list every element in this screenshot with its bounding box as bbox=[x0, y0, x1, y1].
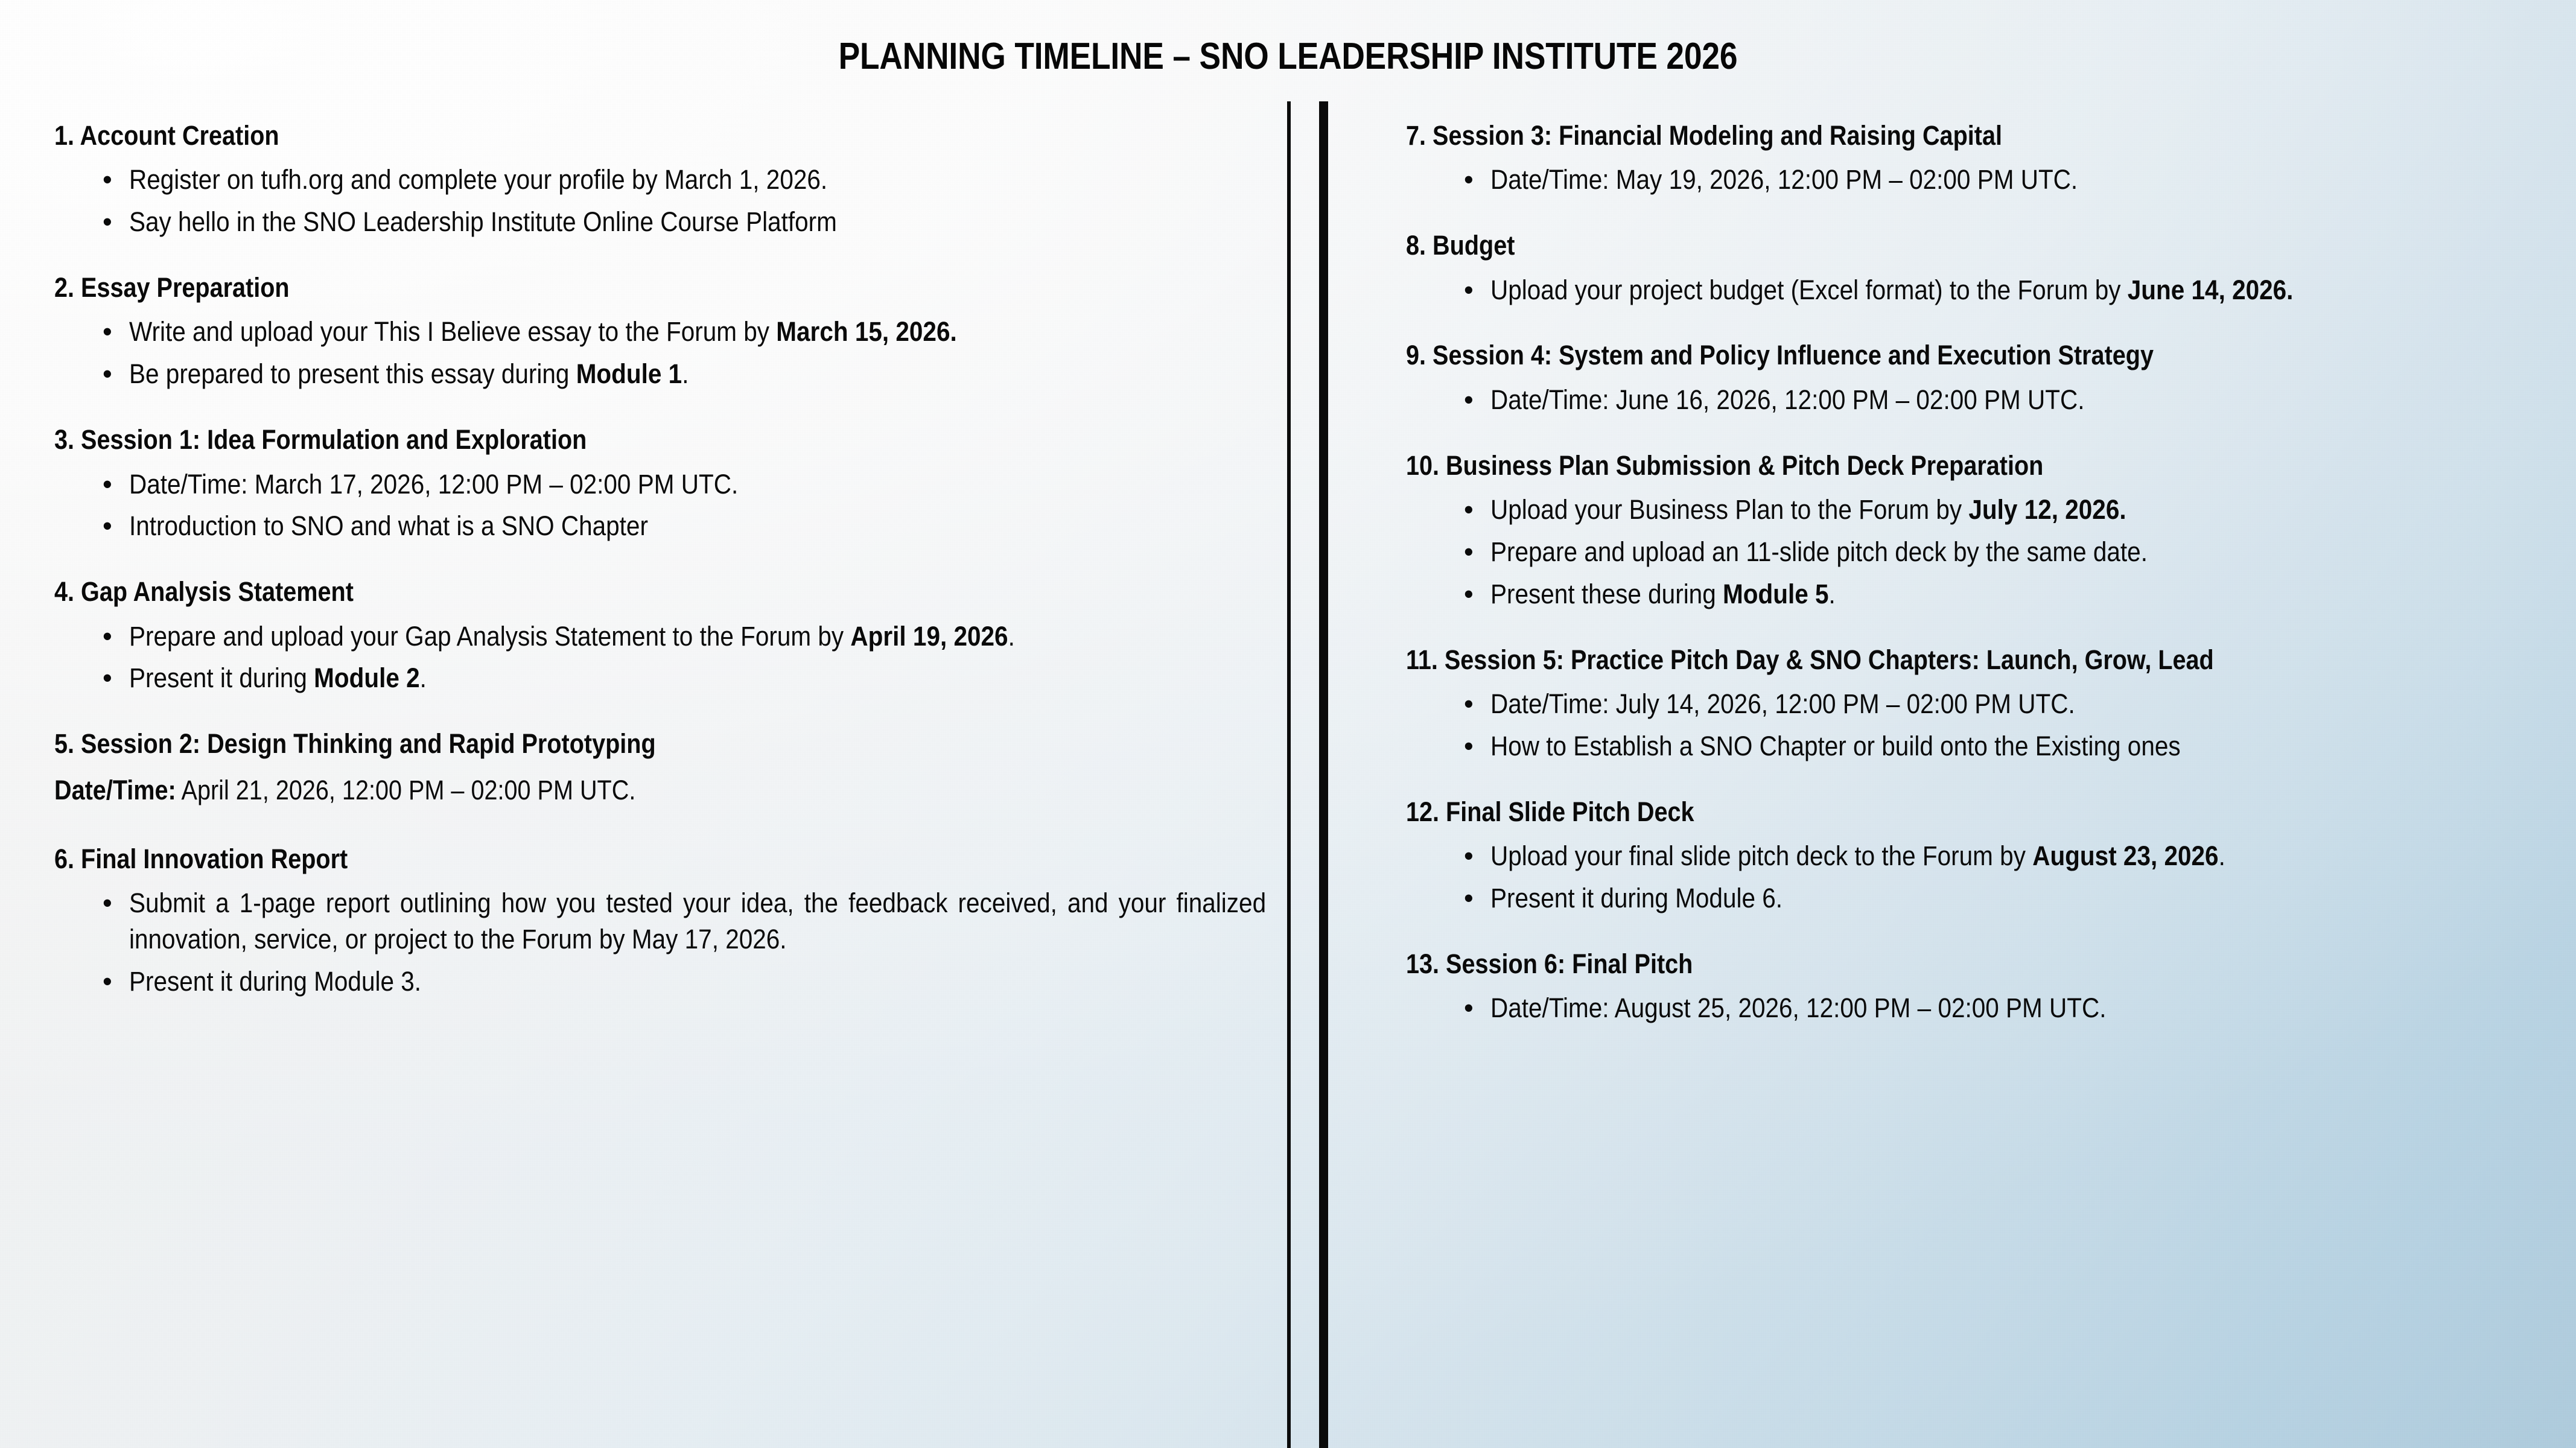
timeline-item-heading: 9. Session 4: System and Policy Influenc… bbox=[1406, 340, 2415, 370]
timeline-item-heading: 7. Session 3: Financial Modeling and Rai… bbox=[1406, 121, 2415, 151]
list-item-text: Present it during Module 2. bbox=[129, 660, 1266, 696]
bullet-icon: • bbox=[103, 618, 112, 655]
list-item: •How to Establish a SNO Chapter or build… bbox=[1464, 728, 2552, 764]
bullet-icon: • bbox=[103, 204, 112, 240]
left-column: 1. Account Creation•Register on tufh.org… bbox=[54, 121, 1267, 1006]
timeline-item: 10. Business Plan Submission & Pitch Dec… bbox=[1406, 451, 2552, 612]
list-item: •Prepare and upload your Gap Analysis St… bbox=[103, 618, 1267, 655]
timeline-item-heading: 4. Gap Analysis Statement bbox=[54, 577, 1122, 607]
timeline-item-bullet-list: •Date/Time: March 17, 2026, 12:00 PM – 0… bbox=[54, 466, 1267, 545]
list-item-text: Upload your final slide pitch deck to th… bbox=[1490, 838, 2551, 874]
list-item-text: Upload your Business Plan to the Forum b… bbox=[1490, 492, 2551, 528]
bullet-icon: • bbox=[1464, 838, 1474, 874]
list-item: •Prepare and upload an 11-slide pitch de… bbox=[1464, 534, 2552, 570]
timeline-item-bullet-list: •Prepare and upload your Gap Analysis St… bbox=[54, 618, 1267, 697]
column-divider-thin bbox=[1287, 101, 1291, 1448]
bullet-icon: • bbox=[103, 466, 112, 503]
timeline-item-bullet-list: •Date/Time: August 25, 2026, 12:00 PM – … bbox=[1406, 990, 2552, 1026]
list-item-text: Date/Time: May 19, 2026, 12:00 PM – 02:0… bbox=[1490, 162, 2551, 198]
timeline-item-heading: 8. Budget bbox=[1406, 230, 2415, 261]
item-spacer bbox=[1406, 922, 2552, 949]
list-item-text: Present these during Module 5. bbox=[1490, 576, 2551, 612]
list-item: •Date/Time: June 16, 2026, 12:00 PM – 02… bbox=[1464, 382, 2552, 418]
list-item-text: Upload your project budget (Excel format… bbox=[1490, 272, 2551, 308]
bullet-icon: • bbox=[1464, 880, 1474, 916]
bullet-icon: • bbox=[1464, 686, 1474, 722]
list-item-text: Date/Time: August 25, 2026, 12:00 PM – 0… bbox=[1490, 990, 2551, 1026]
timeline-item: 9. Session 4: System and Policy Influenc… bbox=[1406, 340, 2552, 418]
timeline-item-bullet-list: •Upload your project budget (Excel forma… bbox=[1406, 272, 2552, 308]
list-item-text: Submit a 1-page report outlining how you… bbox=[129, 885, 1266, 957]
list-item: •Register on tufh.org and complete your … bbox=[103, 162, 1267, 198]
bullet-icon: • bbox=[1464, 534, 1474, 570]
list-item: •Upload your project budget (Excel forma… bbox=[1464, 272, 2552, 308]
bullet-icon: • bbox=[1464, 272, 1474, 308]
timeline-item-bullet-list: •Upload your Business Plan to the Forum … bbox=[1406, 492, 2552, 612]
list-item: •Present it during Module 3. bbox=[103, 964, 1267, 1000]
list-item-text: How to Establish a SNO Chapter or build … bbox=[1490, 728, 2551, 764]
timeline-item: 4. Gap Analysis Statement•Prepare and up… bbox=[54, 577, 1267, 696]
bullet-icon: • bbox=[1464, 382, 1474, 418]
item-spacer bbox=[54, 398, 1267, 425]
timeline-item-bullet-list: •Register on tufh.org and complete your … bbox=[54, 162, 1267, 240]
page-title: PLANNING TIMELINE – SNO LEADERSHIP INSTI… bbox=[180, 35, 2396, 78]
list-item-text: Register on tufh.org and complete your p… bbox=[129, 162, 1266, 198]
list-item-text: Date/Time: March 17, 2026, 12:00 PM – 02… bbox=[129, 466, 1266, 503]
list-item: •Present it during Module 6. bbox=[1464, 880, 2552, 916]
timeline-item: 5. Session 2: Design Thinking and Rapid … bbox=[54, 729, 1267, 806]
timeline-item-bullet-list: •Upload your final slide pitch deck to t… bbox=[1406, 838, 2552, 916]
item-spacer bbox=[54, 807, 1267, 844]
list-item-text: Date/Time: June 16, 2026, 12:00 PM – 02:… bbox=[1490, 382, 2551, 418]
timeline-item-heading: 13. Session 6: Final Pitch bbox=[1406, 949, 2415, 979]
timeline-item-heading: 11. Session 5: Practice Pitch Day & SNO … bbox=[1406, 645, 2415, 675]
item-spacer bbox=[1406, 424, 2552, 451]
list-item: •Date/Time: July 14, 2026, 12:00 PM – 02… bbox=[1464, 686, 2552, 722]
list-item: •Be prepared to present this essay durin… bbox=[103, 356, 1267, 392]
bullet-icon: • bbox=[1464, 162, 1474, 198]
bullet-icon: • bbox=[103, 660, 112, 696]
timeline-item-heading: 3. Session 1: Idea Formulation and Explo… bbox=[54, 425, 1122, 455]
timeline-item-bullet-list: •Date/Time: May 19, 2026, 12:00 PM – 02:… bbox=[1406, 162, 2552, 198]
timeline-item-bullet-list: •Date/Time: July 14, 2026, 12:00 PM – 02… bbox=[1406, 686, 2552, 764]
list-item-text: Present it during Module 3. bbox=[129, 964, 1266, 1000]
timeline-item-heading: 2. Essay Preparation bbox=[54, 273, 1122, 303]
timeline-item: 11. Session 5: Practice Pitch Day & SNO … bbox=[1406, 645, 2552, 764]
list-item: •Say hello in the SNO Leadership Institu… bbox=[103, 204, 1267, 240]
timeline-item-bullet-list: •Submit a 1-page report outlining how yo… bbox=[54, 885, 1267, 1000]
bullet-icon: • bbox=[1464, 990, 1474, 1026]
list-item: •Date/Time: May 19, 2026, 12:00 PM – 02:… bbox=[1464, 162, 2552, 198]
slide-canvas: PLANNING TIMELINE – SNO LEADERSHIP INSTI… bbox=[0, 0, 2576, 1448]
list-item-text: Say hello in the SNO Leadership Institut… bbox=[129, 204, 1266, 240]
timeline-item: 6. Final Innovation Report•Submit a 1-pa… bbox=[54, 844, 1267, 1000]
item-spacer bbox=[1406, 770, 2552, 797]
timeline-item-heading: 12. Final Slide Pitch Deck bbox=[1406, 797, 2415, 827]
list-item-text: Prepare and upload an 11-slide pitch dec… bbox=[1490, 534, 2551, 570]
list-item: •Date/Time: March 17, 2026, 12:00 PM – 0… bbox=[103, 466, 1267, 503]
timeline-item: 12. Final Slide Pitch Deck•Upload your f… bbox=[1406, 797, 2552, 916]
timeline-item: 2. Essay Preparation•Write and upload yo… bbox=[54, 273, 1267, 392]
list-item-text: Write and upload your This I Believe ess… bbox=[129, 314, 1266, 350]
timeline-item: 7. Session 3: Financial Modeling and Rai… bbox=[1406, 121, 2552, 198]
bullet-icon: • bbox=[103, 885, 112, 921]
timeline-item-subline: Date/Time: April 21, 2026, 12:00 PM – 02… bbox=[54, 774, 1122, 807]
bullet-icon: • bbox=[103, 508, 112, 544]
timeline-item-bullet-list: •Write and upload your This I Believe es… bbox=[54, 314, 1267, 392]
bullet-icon: • bbox=[1464, 576, 1474, 612]
list-item: •Introduction to SNO and what is a SNO C… bbox=[103, 508, 1267, 544]
timeline-item: 13. Session 6: Final Pitch•Date/Time: Au… bbox=[1406, 949, 2552, 1026]
list-item: •Upload your final slide pitch deck to t… bbox=[1464, 838, 2552, 874]
bullet-icon: • bbox=[1464, 728, 1474, 764]
timeline-item-heading: 6. Final Innovation Report bbox=[54, 844, 1122, 874]
list-item-text: Be prepared to present this essay during… bbox=[129, 356, 1266, 392]
item-spacer bbox=[54, 246, 1267, 273]
list-item-text: Present it during Module 6. bbox=[1490, 880, 2551, 916]
bullet-icon: • bbox=[103, 356, 112, 392]
list-item: •Present it during Module 2. bbox=[103, 660, 1267, 696]
item-spacer bbox=[1406, 204, 2552, 230]
list-item: •Submit a 1-page report outlining how yo… bbox=[103, 885, 1267, 957]
list-item-text: Introduction to SNO and what is a SNO Ch… bbox=[129, 508, 1266, 544]
bullet-icon: • bbox=[1464, 492, 1474, 528]
column-divider-thick bbox=[1319, 101, 1328, 1448]
timeline-item: 8. Budget•Upload your project budget (Ex… bbox=[1406, 230, 2552, 308]
item-spacer bbox=[54, 702, 1267, 729]
bullet-icon: • bbox=[103, 314, 112, 350]
list-item: •Date/Time: August 25, 2026, 12:00 PM – … bbox=[1464, 990, 2552, 1026]
right-column: 7. Session 3: Financial Modeling and Rai… bbox=[1406, 121, 2552, 1032]
item-spacer bbox=[1406, 618, 2552, 645]
timeline-item-bullet-list: •Date/Time: June 16, 2026, 12:00 PM – 02… bbox=[1406, 382, 2552, 418]
item-spacer bbox=[54, 550, 1267, 577]
timeline-item-heading: 5. Session 2: Design Thinking and Rapid … bbox=[54, 729, 1122, 759]
list-item-text: Date/Time: July 14, 2026, 12:00 PM – 02:… bbox=[1490, 686, 2551, 722]
item-spacer bbox=[1406, 314, 2552, 340]
list-item: •Present these during Module 5. bbox=[1464, 576, 2552, 612]
list-item: •Write and upload your This I Believe es… bbox=[103, 314, 1267, 350]
timeline-item: 3. Session 1: Idea Formulation and Explo… bbox=[54, 425, 1267, 544]
bullet-icon: • bbox=[103, 964, 112, 1000]
bullet-icon: • bbox=[103, 162, 112, 198]
timeline-item-heading: 10. Business Plan Submission & Pitch Dec… bbox=[1406, 451, 2415, 481]
timeline-item-heading: 1. Account Creation bbox=[54, 121, 1122, 151]
list-item-text: Prepare and upload your Gap Analysis Sta… bbox=[129, 618, 1266, 655]
list-item: •Upload your Business Plan to the Forum … bbox=[1464, 492, 2552, 528]
timeline-item: 1. Account Creation•Register on tufh.org… bbox=[54, 121, 1267, 240]
